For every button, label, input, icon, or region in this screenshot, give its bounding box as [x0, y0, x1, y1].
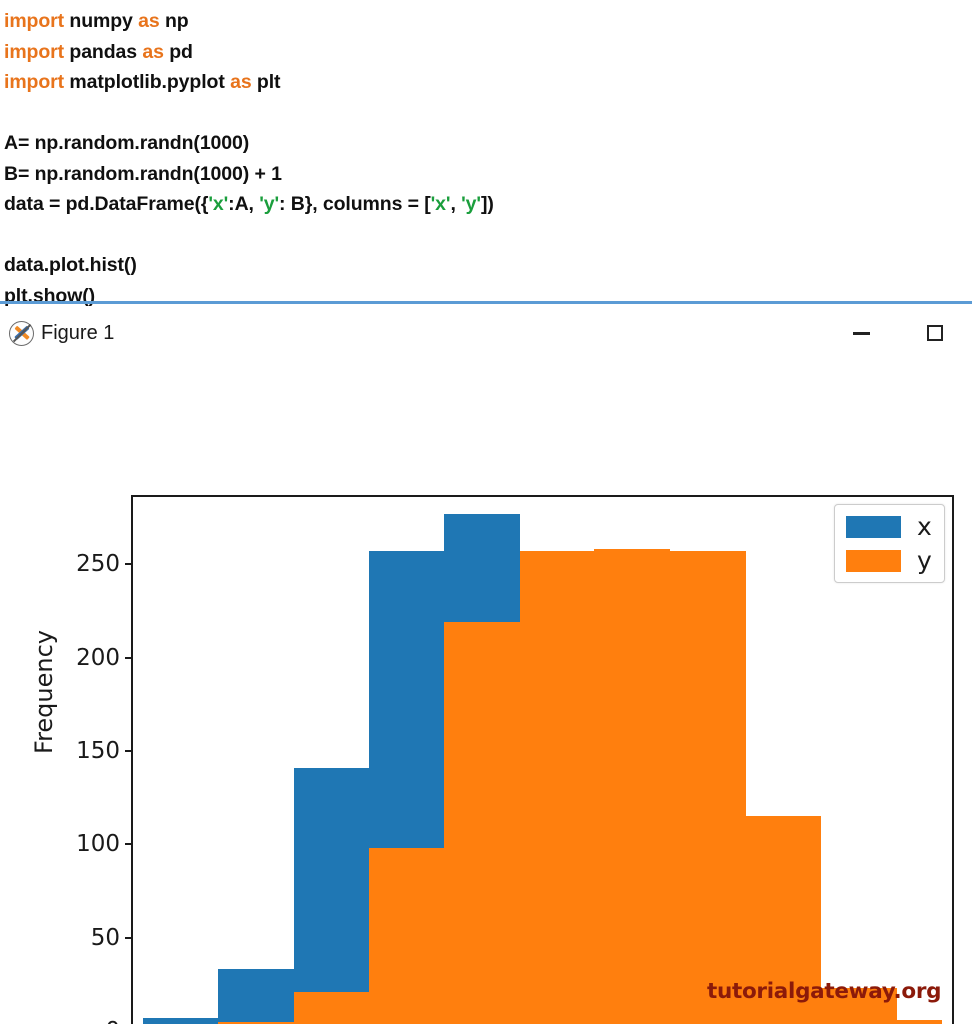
code-string: 'x' [208, 193, 228, 215]
histogram-bar-x [218, 969, 294, 1024]
watermark-text: tutorialgateway.org [707, 979, 941, 1004]
y-tick-mark [125, 750, 133, 752]
y-tick-mark [125, 937, 133, 939]
histogram-bar-x [294, 768, 369, 1024]
figure-canvas: Frequency 050100150200250 −3−2−101234 x … [0, 359, 972, 1024]
code-line: data.plot.hist() [4, 250, 972, 281]
code-line: data = pd.DataFrame({'x':A, 'y': B}, col… [4, 189, 972, 220]
plot-axes: 050100150200250 −3−2−101234 x y [131, 495, 954, 1024]
code-blank-line [4, 98, 972, 129]
histogram-bar-y [897, 1020, 943, 1024]
y-tick-mark [125, 657, 133, 659]
y-axis-label: Frequency [30, 630, 58, 754]
histogram-bar-y [369, 848, 445, 1024]
histogram-bar-y [294, 992, 369, 1024]
maximize-button[interactable] [898, 307, 972, 359]
code-keyword: as [230, 71, 252, 93]
legend-swatch-y [846, 550, 901, 572]
code-text: plt [252, 71, 281, 93]
code-blank-line [4, 220, 972, 251]
code-text: numpy [64, 10, 138, 32]
code-editor-pane: import numpy as npimport pandas as pdimp… [0, 0, 972, 304]
screenshot-root: import numpy as npimport pandas as pdimp… [0, 0, 972, 1024]
code-text: ]) [481, 193, 494, 215]
histogram-bar-y [444, 622, 520, 1024]
code-string: 'x' [431, 193, 451, 215]
code-line: import pandas as pd [4, 37, 972, 68]
legend-item-x[interactable]: x [846, 514, 933, 539]
code-text: , [450, 193, 461, 215]
window-title: Figure 1 [41, 322, 114, 345]
code-text: pandas [64, 41, 142, 63]
figure-window: Figure 1 Frequency 050100150200250 −3−2−… [0, 307, 972, 1024]
minimize-icon [853, 332, 870, 335]
code-string: 'y' [259, 193, 279, 215]
code-pane-divider [0, 301, 972, 304]
legend-swatch-x [846, 516, 901, 538]
minimize-button[interactable] [824, 307, 898, 359]
matplotlib-figure-icon [9, 321, 34, 346]
code-text: data = pd.DataFrame({ [4, 193, 208, 215]
code-text: data.plot.hist() [4, 254, 137, 276]
code-text: matplotlib.pyplot [64, 71, 230, 93]
histogram-bar-y [670, 551, 746, 1024]
histogram-bar-x [143, 1018, 219, 1024]
code-keyword: as [142, 41, 164, 63]
legend-label-y: y [917, 548, 933, 573]
code-text: : B}, columns = [ [279, 193, 431, 215]
code-keyword: as [138, 10, 160, 32]
window-controls [824, 307, 972, 359]
code-keyword: import [4, 41, 64, 63]
histogram-bar-y [520, 551, 595, 1024]
code-line: A= np.random.randn(1000) [4, 128, 972, 159]
code-keyword: import [4, 71, 64, 93]
code-string: 'y' [461, 193, 481, 215]
y-tick-mark [125, 843, 133, 845]
code-text: np [160, 10, 189, 32]
code-listing: import numpy as npimport pandas as pdimp… [4, 6, 972, 311]
code-text: :A, [228, 193, 259, 215]
figure-titlebar: Figure 1 [0, 307, 972, 359]
histogram-bars [133, 497, 952, 1024]
code-text: pd [164, 41, 193, 63]
y-tick-label: 0 [105, 1018, 133, 1024]
chart-legend[interactable]: x y [834, 504, 945, 583]
y-tick-mark [125, 563, 133, 565]
code-keyword: import [4, 10, 64, 32]
code-text: B= np.random.randn(1000) + 1 [4, 163, 282, 185]
legend-item-y[interactable]: y [846, 548, 933, 573]
histogram-bar-y [594, 549, 670, 1024]
code-line: import matplotlib.pyplot as plt [4, 67, 972, 98]
maximize-icon [927, 325, 943, 341]
code-line: import numpy as np [4, 6, 972, 37]
code-line: B= np.random.randn(1000) + 1 [4, 159, 972, 190]
code-text: A= np.random.randn(1000) [4, 132, 249, 154]
legend-label-x: x [917, 514, 933, 539]
